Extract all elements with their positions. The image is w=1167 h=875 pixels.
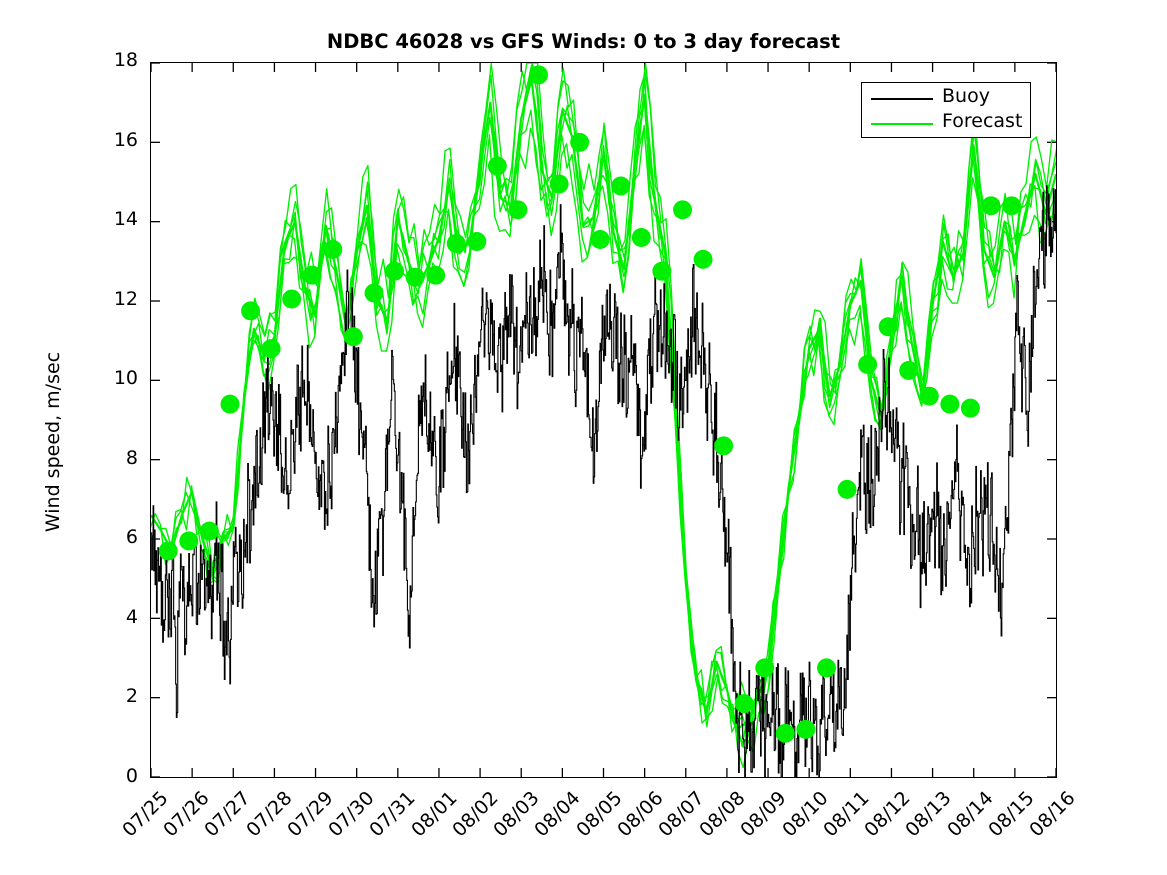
buoy-series-line bbox=[151, 186, 1056, 777]
y-tick-label: 0 bbox=[98, 765, 138, 787]
plot-area bbox=[150, 62, 1057, 778]
legend-box[interactable]: Buoy Forecast bbox=[861, 82, 1031, 138]
y-axis-label: Wind speed, m/sec bbox=[42, 0, 82, 800]
legend-entry-buoy: Buoy bbox=[862, 86, 1032, 112]
legend-entry-forecast: Forecast bbox=[862, 111, 1032, 137]
y-tick-label: 12 bbox=[98, 288, 138, 310]
y-tick-label: 18 bbox=[98, 49, 138, 71]
page-title: NDBC 46028 vs GFS Winds: 0 to 3 day fore… bbox=[0, 30, 1167, 53]
y-tick-label: 2 bbox=[98, 685, 138, 707]
legend-swatch-forecast bbox=[871, 123, 933, 125]
y-tick-label: 14 bbox=[98, 208, 138, 230]
y-tick-label: 6 bbox=[98, 526, 138, 548]
legend-label-forecast: Forecast bbox=[942, 110, 1022, 132]
y-tick-label: 10 bbox=[98, 367, 138, 389]
forecast-ensemble-lines bbox=[151, 63, 1056, 768]
y-tick-label: 8 bbox=[98, 447, 138, 469]
legend-label-buoy: Buoy bbox=[942, 85, 990, 107]
legend-swatch-buoy bbox=[871, 98, 933, 100]
axis-tickmarks bbox=[151, 63, 1056, 777]
y-tick-label: 16 bbox=[98, 129, 138, 151]
plot-svg bbox=[151, 63, 1056, 777]
y-tick-label: 4 bbox=[98, 606, 138, 628]
figure-canvas: NDBC 46028 vs GFS Winds: 0 to 3 day fore… bbox=[0, 0, 1167, 875]
